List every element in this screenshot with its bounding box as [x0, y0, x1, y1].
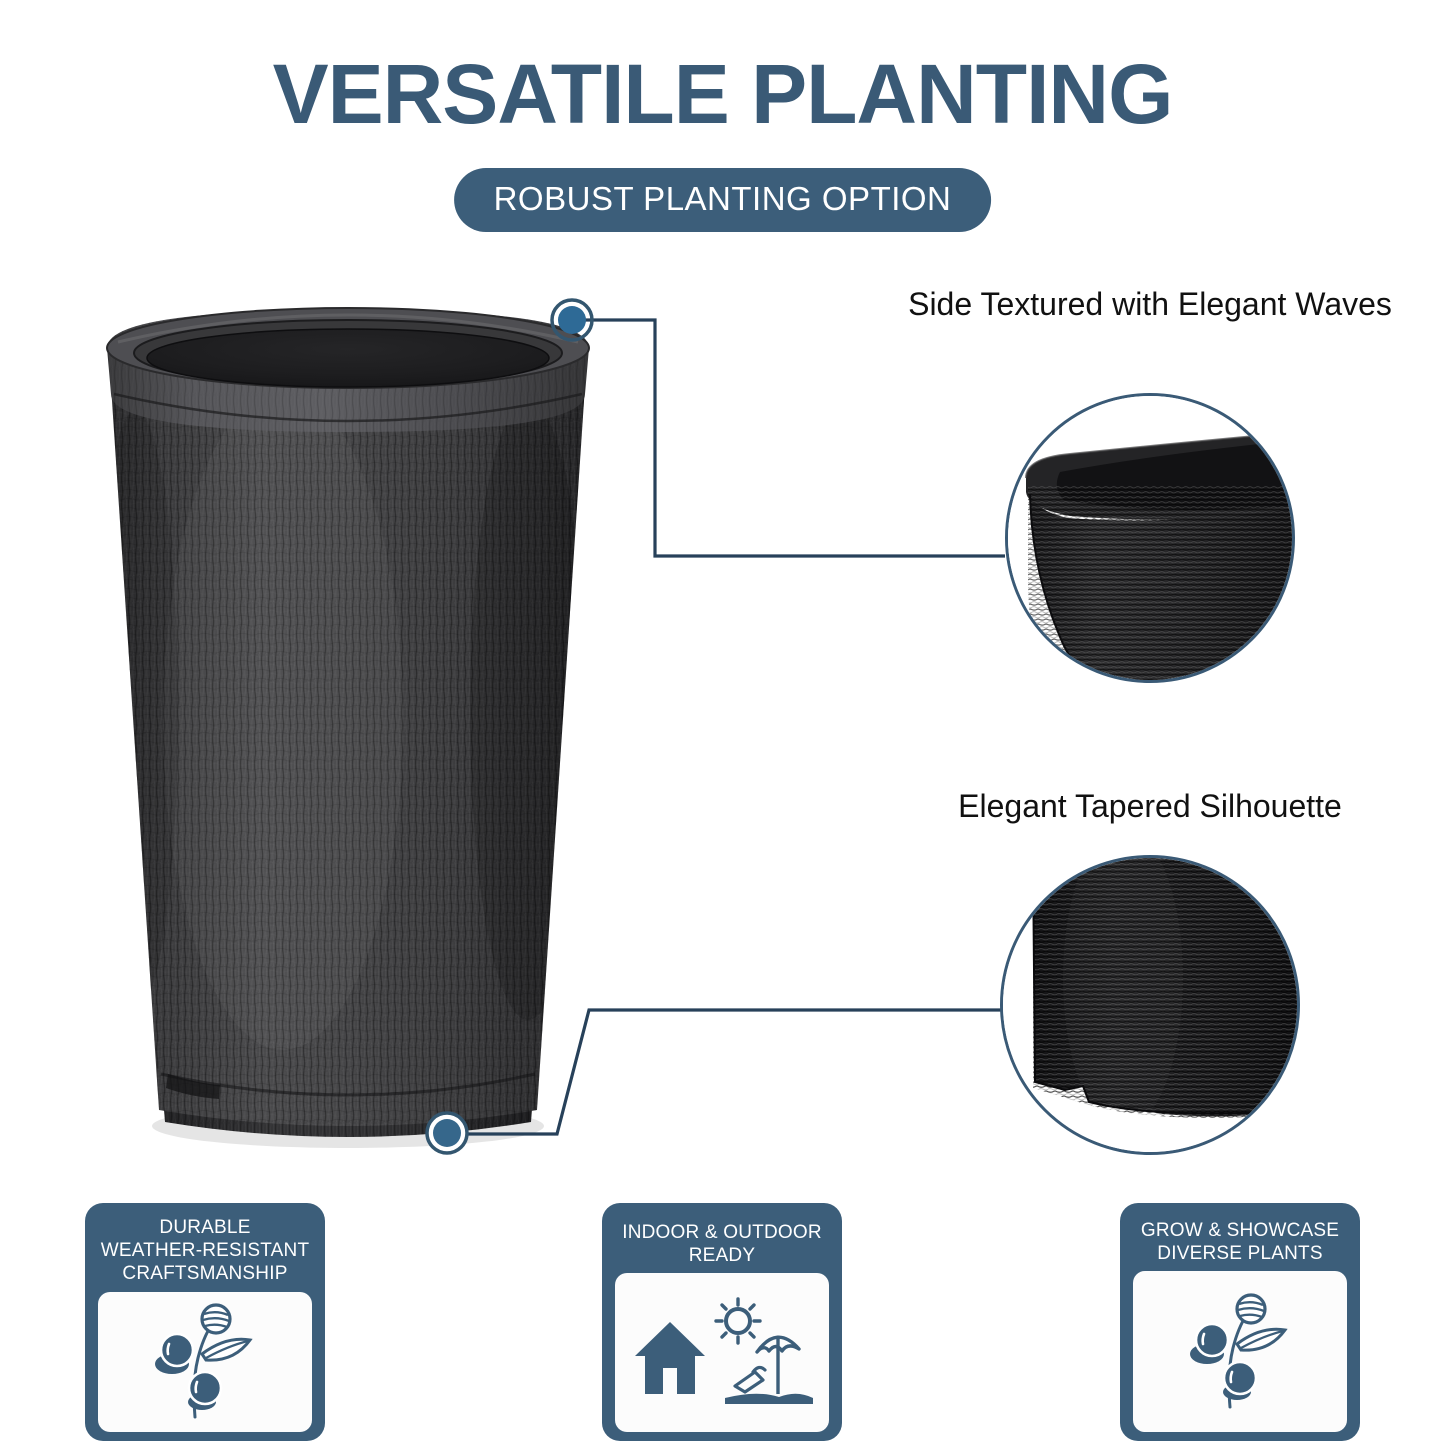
page-title: VERSATILE PLANTING: [0, 52, 1445, 136]
detail-texture-closeup: [1008, 396, 1295, 683]
badge-title: DURABLE WEATHER-RESISTANT CRAFTSMANSHIP: [85, 1203, 325, 1286]
detail-circle-side-texture: [1005, 393, 1295, 683]
berry-sprig-icon: [1185, 1292, 1295, 1412]
subtitle-badge: ROBUST PLANTING OPTION: [454, 168, 992, 232]
planter-illustration: [48, 290, 648, 1190]
detail-silhouette-closeup: [1003, 858, 1300, 1155]
badge-icon-panel: [615, 1273, 829, 1432]
callout-label-side-texture: Side Textured with Elegant Waves: [895, 284, 1405, 325]
badge-durable: DURABLE WEATHER-RESISTANT CRAFTSMANSHIP: [85, 1203, 325, 1441]
badge-grow-showcase: GROW & SHOWCASE DIVERSE PLANTS: [1120, 1203, 1360, 1441]
badge-line: INDOOR & OUTDOOR: [622, 1222, 822, 1243]
badge-line: GROW & SHOWCASE: [1141, 1220, 1339, 1241]
badge-icon-panel: [98, 1292, 312, 1432]
badge-title: INDOOR & OUTDOOR READY: [602, 1203, 842, 1267]
badge-line: READY: [689, 1245, 755, 1266]
house-sun-beach-icon: [627, 1294, 817, 1412]
badge-icon-panel: [1133, 1271, 1347, 1432]
feature-badges: DURABLE WEATHER-RESISTANT CRAFTSMANSHIP: [0, 1203, 1445, 1445]
infographic-page: VERSATILE PLANTING ROBUST PLANTING OPTIO…: [0, 0, 1445, 1445]
badge-line: DIVERSE PLANTS: [1157, 1243, 1322, 1264]
product-image: [48, 272, 648, 1192]
badge-indoor-outdoor: INDOOR & OUTDOOR READY: [602, 1203, 842, 1441]
badge-line: CRAFTSMANSHIP: [122, 1263, 287, 1284]
badge-line: DURABLE: [159, 1217, 250, 1238]
berry-sprig-icon: [150, 1302, 260, 1422]
badge-line: WEATHER-RESISTANT: [101, 1240, 310, 1261]
callout-label-tapered-silhouette: Elegant Tapered Silhouette: [895, 786, 1405, 827]
badge-title: GROW & SHOWCASE DIVERSE PLANTS: [1120, 1203, 1360, 1265]
detail-circle-tapered-silhouette: [1000, 855, 1300, 1155]
